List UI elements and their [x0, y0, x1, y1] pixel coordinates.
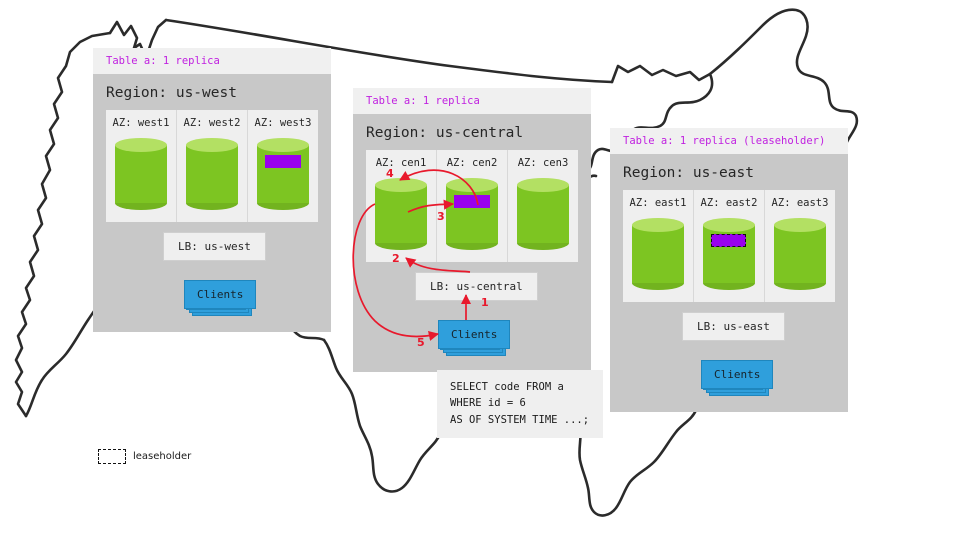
arrow-label-1: 1 [481, 296, 489, 309]
arrow-label-2: 2 [392, 252, 400, 265]
diagram-canvas: Table a: 1 replica Region: us-west AZ: w… [0, 0, 960, 540]
arrow-label-3: 3 [437, 210, 445, 223]
arrow-step-5 [353, 204, 438, 336]
arrow-step-3 [408, 204, 453, 212]
arrow-label-5: 5 [417, 336, 425, 349]
arrow-step-4 [400, 170, 478, 205]
arrow-label-4: 4 [386, 167, 394, 180]
flow-arrows [0, 0, 960, 540]
arrow-step-2 [406, 258, 470, 272]
